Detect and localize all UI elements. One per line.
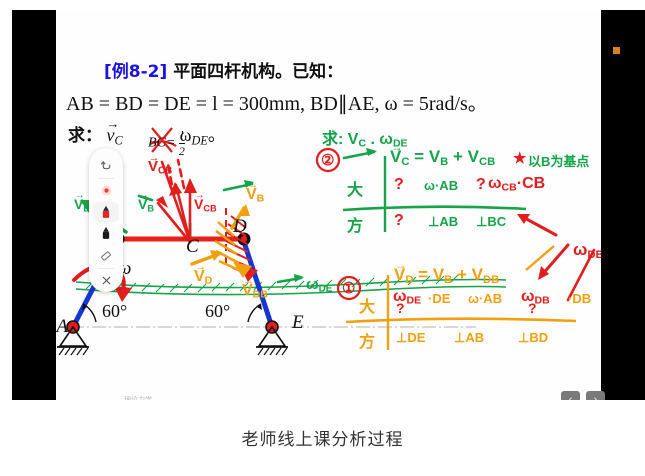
red-pen-glyph [100, 205, 112, 220]
page-caption: 老师线上课分析过程 [0, 425, 645, 450]
green-tick-vb-mid [139, 196, 152, 200]
green-arrow-omega-de [278, 274, 304, 282]
red-pen-icon[interactable] [93, 202, 119, 223]
slide-canvas[interactable]: [例8-2] 平面四杆机构。已知： AB = BD = DE = l = 300… [56, 10, 601, 400]
four-bar-linkage-diagram: B C D A E 60° 60° ω [56, 10, 601, 400]
slide-nav-controls[interactable]: ‹ › [561, 391, 605, 400]
watermark: 理论力学 [124, 395, 152, 400]
red-arrow-to-omega-db [517, 214, 556, 235]
eraser-icon[interactable] [93, 245, 119, 266]
close-icon[interactable] [93, 270, 119, 291]
green-arrow-vcb-tick [224, 180, 254, 190]
support-E [256, 321, 288, 355]
red-arrowhead-3 [184, 178, 197, 193]
toolbar-divider-1 [98, 178, 114, 179]
laser-glyph [100, 184, 113, 197]
orange-table-hrule [346, 319, 576, 322]
eraser-glyph [99, 249, 113, 263]
black-pen-icon[interactable] [93, 223, 119, 244]
label-D: D [232, 216, 247, 237]
frame-edge-left [0, 10, 12, 400]
page-root: ••• [例8-2] 平面四杆机构。已知： AB = BD = DE = l =… [0, 0, 645, 476]
angle-label-left: 60° [102, 301, 127, 321]
red-bc-scribble [150, 128, 176, 152]
red-arrow-into-orange [538, 245, 568, 280]
letterbox-right [601, 10, 645, 400]
next-slide-button[interactable]: › [586, 391, 605, 400]
undo-icon[interactable] [93, 155, 119, 176]
red-circle-step1 [338, 277, 360, 299]
laser-pointer-icon[interactable] [93, 180, 119, 201]
ground-hatch [86, 275, 458, 292]
prev-slide-button[interactable]: ‹ [561, 391, 580, 400]
red-circle-step2 [317, 149, 339, 171]
ground-ink-line-2 [76, 287, 506, 295]
undo-glyph [100, 159, 113, 172]
letterbox-left [12, 10, 56, 400]
black-pen-glyph [100, 226, 112, 241]
red-leader-line [568, 250, 594, 300]
recording-indicator-dot [613, 47, 620, 54]
annotation-toolbar[interactable] [89, 148, 123, 292]
angle-label-right: 60° [205, 301, 230, 321]
green-step-arrow [344, 148, 377, 158]
toolbar-divider-2 [98, 268, 114, 269]
label-A: A [56, 316, 68, 337]
green-table-hrule [343, 207, 526, 210]
label-E: E [291, 312, 304, 333]
label-C: C [186, 236, 199, 257]
video-player[interactable]: ••• [例8-2] 平面四杆机构。已知： AB = BD = DE = l =… [0, 10, 645, 400]
close-glyph [100, 274, 113, 287]
